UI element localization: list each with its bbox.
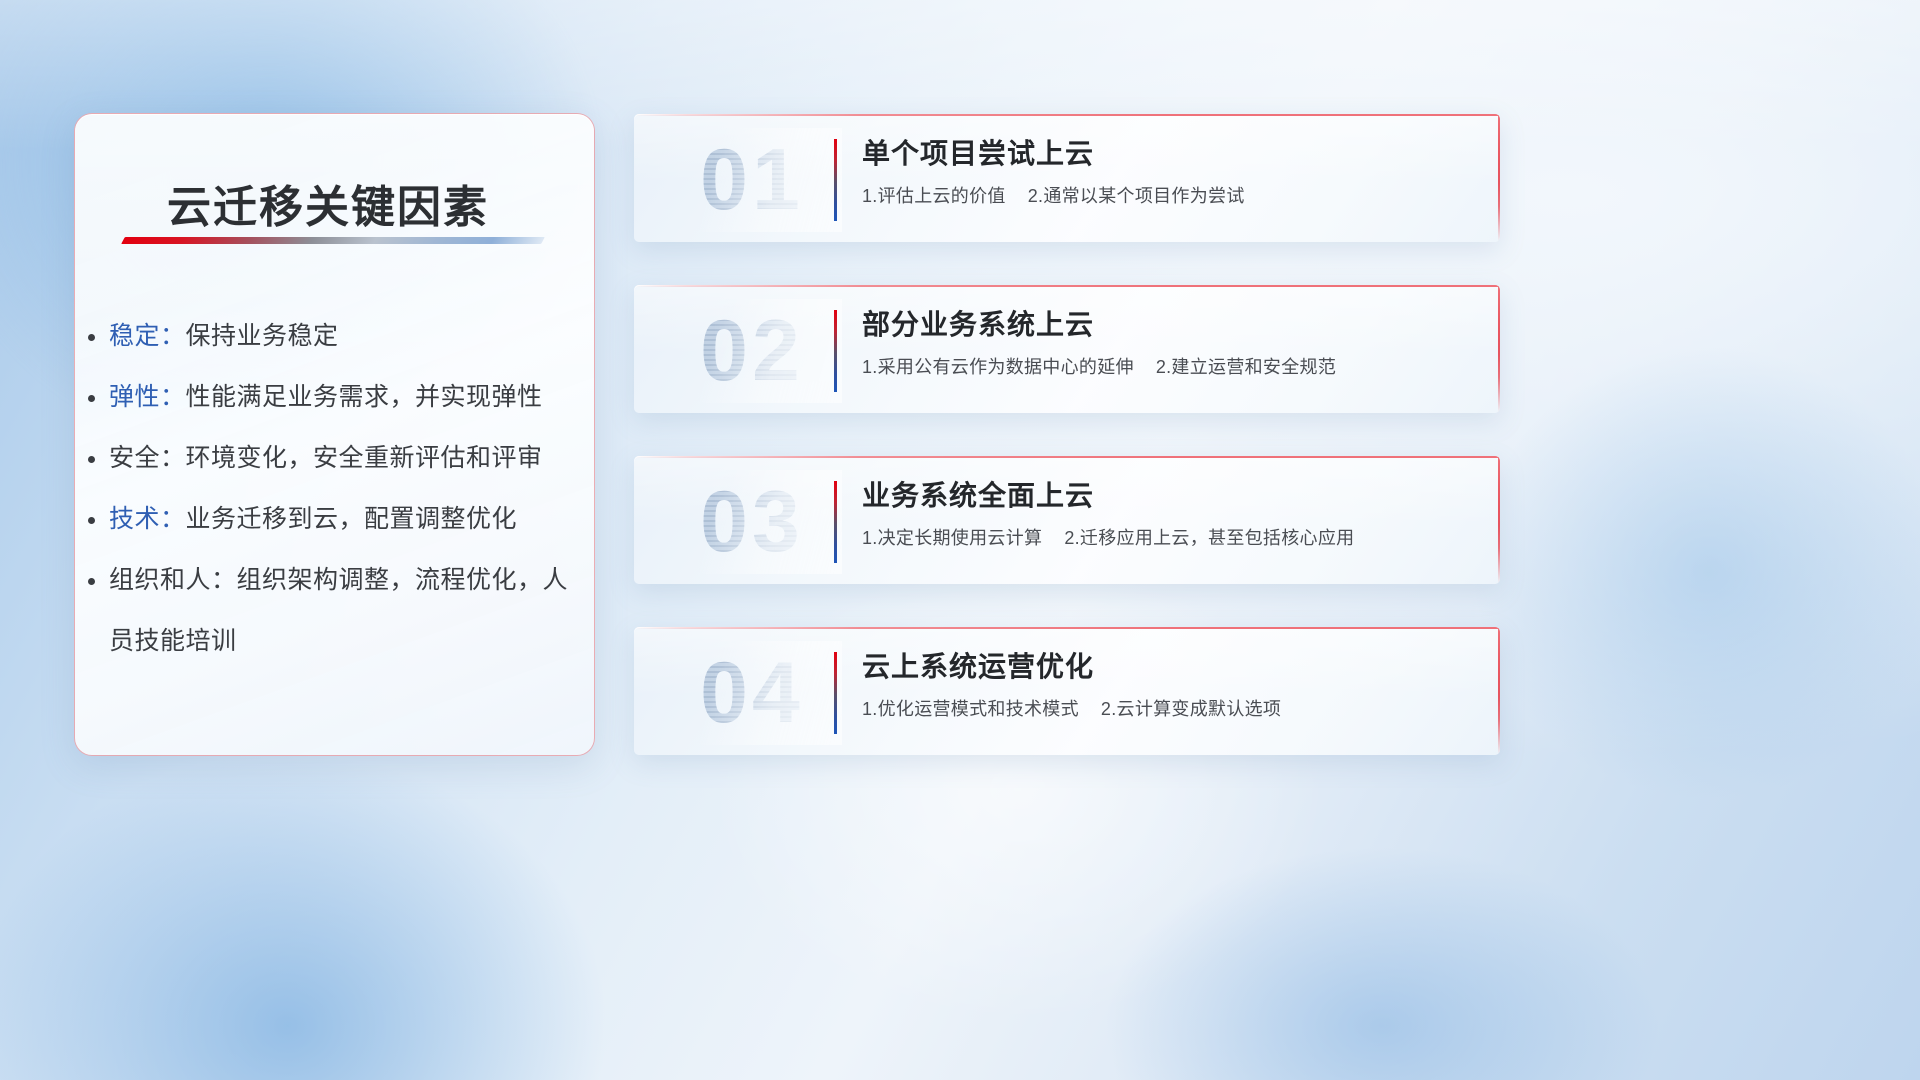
cloud-stage-card-list: 01单个项目尝试上云1.评估上云的价值2.通常以某个项目作为尝试02部分业务系统… bbox=[634, 114, 1500, 798]
stage-card[interactable]: 03业务系统全面上云1.决定长期使用云计算2.迁移应用上云，甚至包括核心应用 bbox=[634, 456, 1500, 584]
stage-card[interactable]: 01单个项目尝试上云1.评估上云的价值2.通常以某个项目作为尝试 bbox=[634, 114, 1500, 242]
card-title: 云上系统运营优化 bbox=[862, 647, 1474, 687]
card-description-part-1: 1.评估上云的价值 bbox=[862, 186, 1006, 206]
slide-stage: 云迁移关键因素 稳定：保持业务稳定弹性：性能满足业务需求，并实现弹性安全：环境变… bbox=[0, 0, 1920, 1080]
card-right-accent bbox=[1498, 456, 1500, 584]
card-description-part-1: 1.优化运营模式和技术模式 bbox=[862, 699, 1079, 719]
title-underline-accent bbox=[121, 237, 545, 244]
card-right-accent bbox=[1498, 114, 1500, 242]
card-description-part-2: 2.通常以某个项目作为尝试 bbox=[1028, 186, 1245, 206]
key-factors-list: 稳定：保持业务稳定弹性：性能满足业务需求，并实现弹性安全：环境变化，安全重新评估… bbox=[109, 306, 572, 672]
card-top-accent bbox=[634, 285, 1500, 287]
card-step-number: 01 bbox=[662, 128, 842, 232]
card-top-accent bbox=[634, 456, 1500, 458]
card-description-part-2: 2.迁移应用上云，甚至包括核心应用 bbox=[1064, 528, 1354, 548]
list-item-text: 保持业务稳定 bbox=[186, 322, 339, 350]
card-step-number: 03 bbox=[662, 470, 842, 574]
list-item-label: 技术： bbox=[109, 505, 186, 533]
card-body: 业务系统全面上云1.决定长期使用云计算2.迁移应用上云，甚至包括核心应用 bbox=[862, 476, 1474, 551]
list-item-label: 安全： bbox=[109, 444, 186, 472]
list-item-label: 弹性： bbox=[109, 383, 186, 411]
card-step-number: 04 bbox=[662, 641, 842, 745]
card-description: 1.评估上云的价值2.通常以某个项目作为尝试 bbox=[862, 183, 1474, 209]
list-item-label: 组织和人： bbox=[109, 566, 237, 594]
page-title: 云迁移关键因素 bbox=[167, 171, 489, 235]
key-factors-panel: 云迁移关键因素 稳定：保持业务稳定弹性：性能满足业务需求，并实现弹性安全：环境变… bbox=[74, 113, 595, 756]
card-top-accent bbox=[634, 627, 1500, 629]
card-description-part-2: 2.云计算变成默认选项 bbox=[1101, 699, 1281, 719]
card-description-part-1: 1.采用公有云作为数据中心的延伸 bbox=[862, 357, 1134, 377]
list-item: 稳定：保持业务稳定 bbox=[109, 306, 572, 367]
list-item: 组织和人：组织架构调整，流程优化，人员技能培训 bbox=[109, 550, 572, 672]
card-step-number: 02 bbox=[662, 299, 842, 403]
list-item-label: 稳定： bbox=[109, 322, 186, 350]
card-divider-bar bbox=[834, 481, 837, 563]
card-right-accent bbox=[1498, 627, 1500, 755]
card-body: 云上系统运营优化1.优化运营模式和技术模式2.云计算变成默认选项 bbox=[862, 647, 1474, 722]
card-divider-bar bbox=[834, 139, 837, 221]
card-body: 部分业务系统上云1.采用公有云作为数据中心的延伸2.建立运营和安全规范 bbox=[862, 305, 1474, 380]
list-item: 弹性：性能满足业务需求，并实现弹性 bbox=[109, 367, 572, 428]
list-item: 技术：业务迁移到云，配置调整优化 bbox=[109, 489, 572, 550]
stage-card[interactable]: 02部分业务系统上云1.采用公有云作为数据中心的延伸2.建立运营和安全规范 bbox=[634, 285, 1500, 413]
card-description-part-1: 1.决定长期使用云计算 bbox=[862, 528, 1042, 548]
card-title: 部分业务系统上云 bbox=[862, 305, 1474, 345]
card-divider-bar bbox=[834, 310, 837, 392]
card-right-accent bbox=[1498, 285, 1500, 413]
card-top-accent bbox=[634, 114, 1500, 116]
card-divider-bar bbox=[834, 652, 837, 734]
stage-card[interactable]: 04云上系统运营优化1.优化运营模式和技术模式2.云计算变成默认选项 bbox=[634, 627, 1500, 755]
list-item-text: 业务迁移到云，配置调整优化 bbox=[186, 505, 518, 533]
card-description: 1.优化运营模式和技术模式2.云计算变成默认选项 bbox=[862, 696, 1474, 722]
card-body: 单个项目尝试上云1.评估上云的价值2.通常以某个项目作为尝试 bbox=[862, 134, 1474, 209]
card-description: 1.决定长期使用云计算2.迁移应用上云，甚至包括核心应用 bbox=[862, 525, 1474, 551]
list-item: 安全：环境变化，安全重新评估和评审 bbox=[109, 428, 572, 489]
card-description: 1.采用公有云作为数据中心的延伸2.建立运营和安全规范 bbox=[862, 354, 1474, 380]
list-item-text: 性能满足业务需求，并实现弹性 bbox=[186, 383, 543, 411]
card-description-part-2: 2.建立运营和安全规范 bbox=[1156, 357, 1336, 377]
list-item-text: 环境变化，安全重新评估和评审 bbox=[186, 444, 543, 472]
card-title: 业务系统全面上云 bbox=[862, 476, 1474, 516]
card-title: 单个项目尝试上云 bbox=[862, 134, 1474, 174]
